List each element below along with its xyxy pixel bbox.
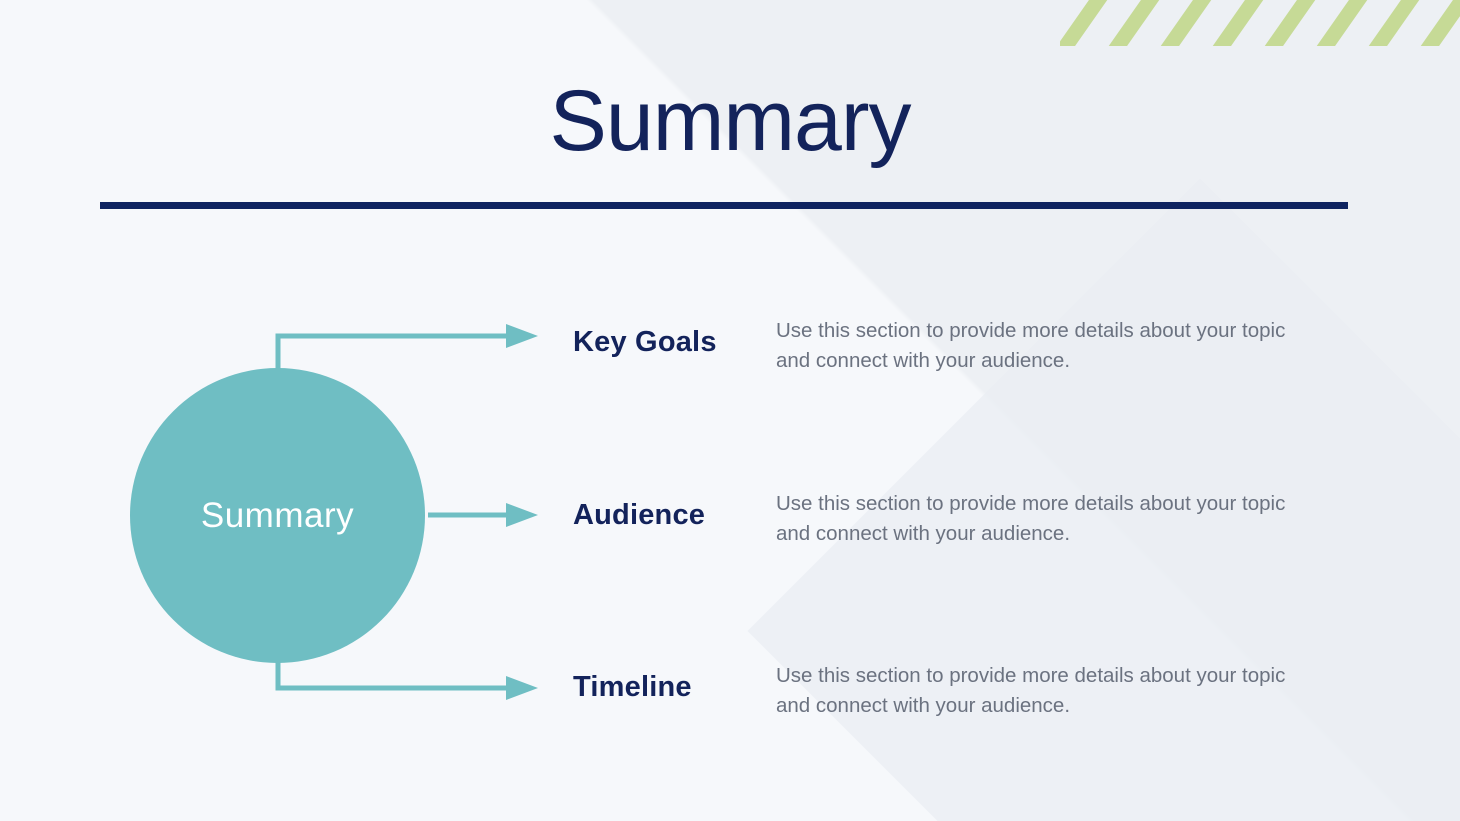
center-node-circle: Summary — [130, 368, 425, 663]
branch-row-audience: Audience Use this section to provide mor… — [573, 489, 1373, 550]
branch-body-audience: Use this section to provide more details… — [776, 489, 1316, 550]
stripe-7 — [1365, 0, 1430, 46]
stripe-3 — [1157, 0, 1222, 46]
center-node-label: Summary — [201, 496, 354, 536]
title-divider — [100, 202, 1348, 209]
stripe-6 — [1313, 0, 1378, 46]
stripe-2 — [1105, 0, 1170, 46]
branch-body-timeline: Use this section to provide more details… — [776, 661, 1316, 722]
branch-title-audience: Audience — [573, 489, 773, 532]
branch-title-timeline: Timeline — [573, 661, 773, 704]
slide-canvas: Summary Summary Key Goals Use this secti… — [0, 0, 1460, 821]
stripe-8 — [1417, 0, 1460, 46]
branch-row-timeline: Timeline Use this section to provide mor… — [573, 661, 1373, 722]
branch-body-key-goals: Use this section to provide more details… — [776, 316, 1316, 377]
slide-title: Summary — [0, 78, 1460, 164]
stripe-4 — [1209, 0, 1274, 46]
stripe-1 — [1060, 0, 1118, 46]
branch-row-key-goals: Key Goals Use this section to provide mo… — [573, 316, 1373, 377]
stripe-5 — [1261, 0, 1326, 46]
branch-title-key-goals: Key Goals — [573, 316, 773, 359]
decorative-stripes — [1060, 0, 1460, 46]
